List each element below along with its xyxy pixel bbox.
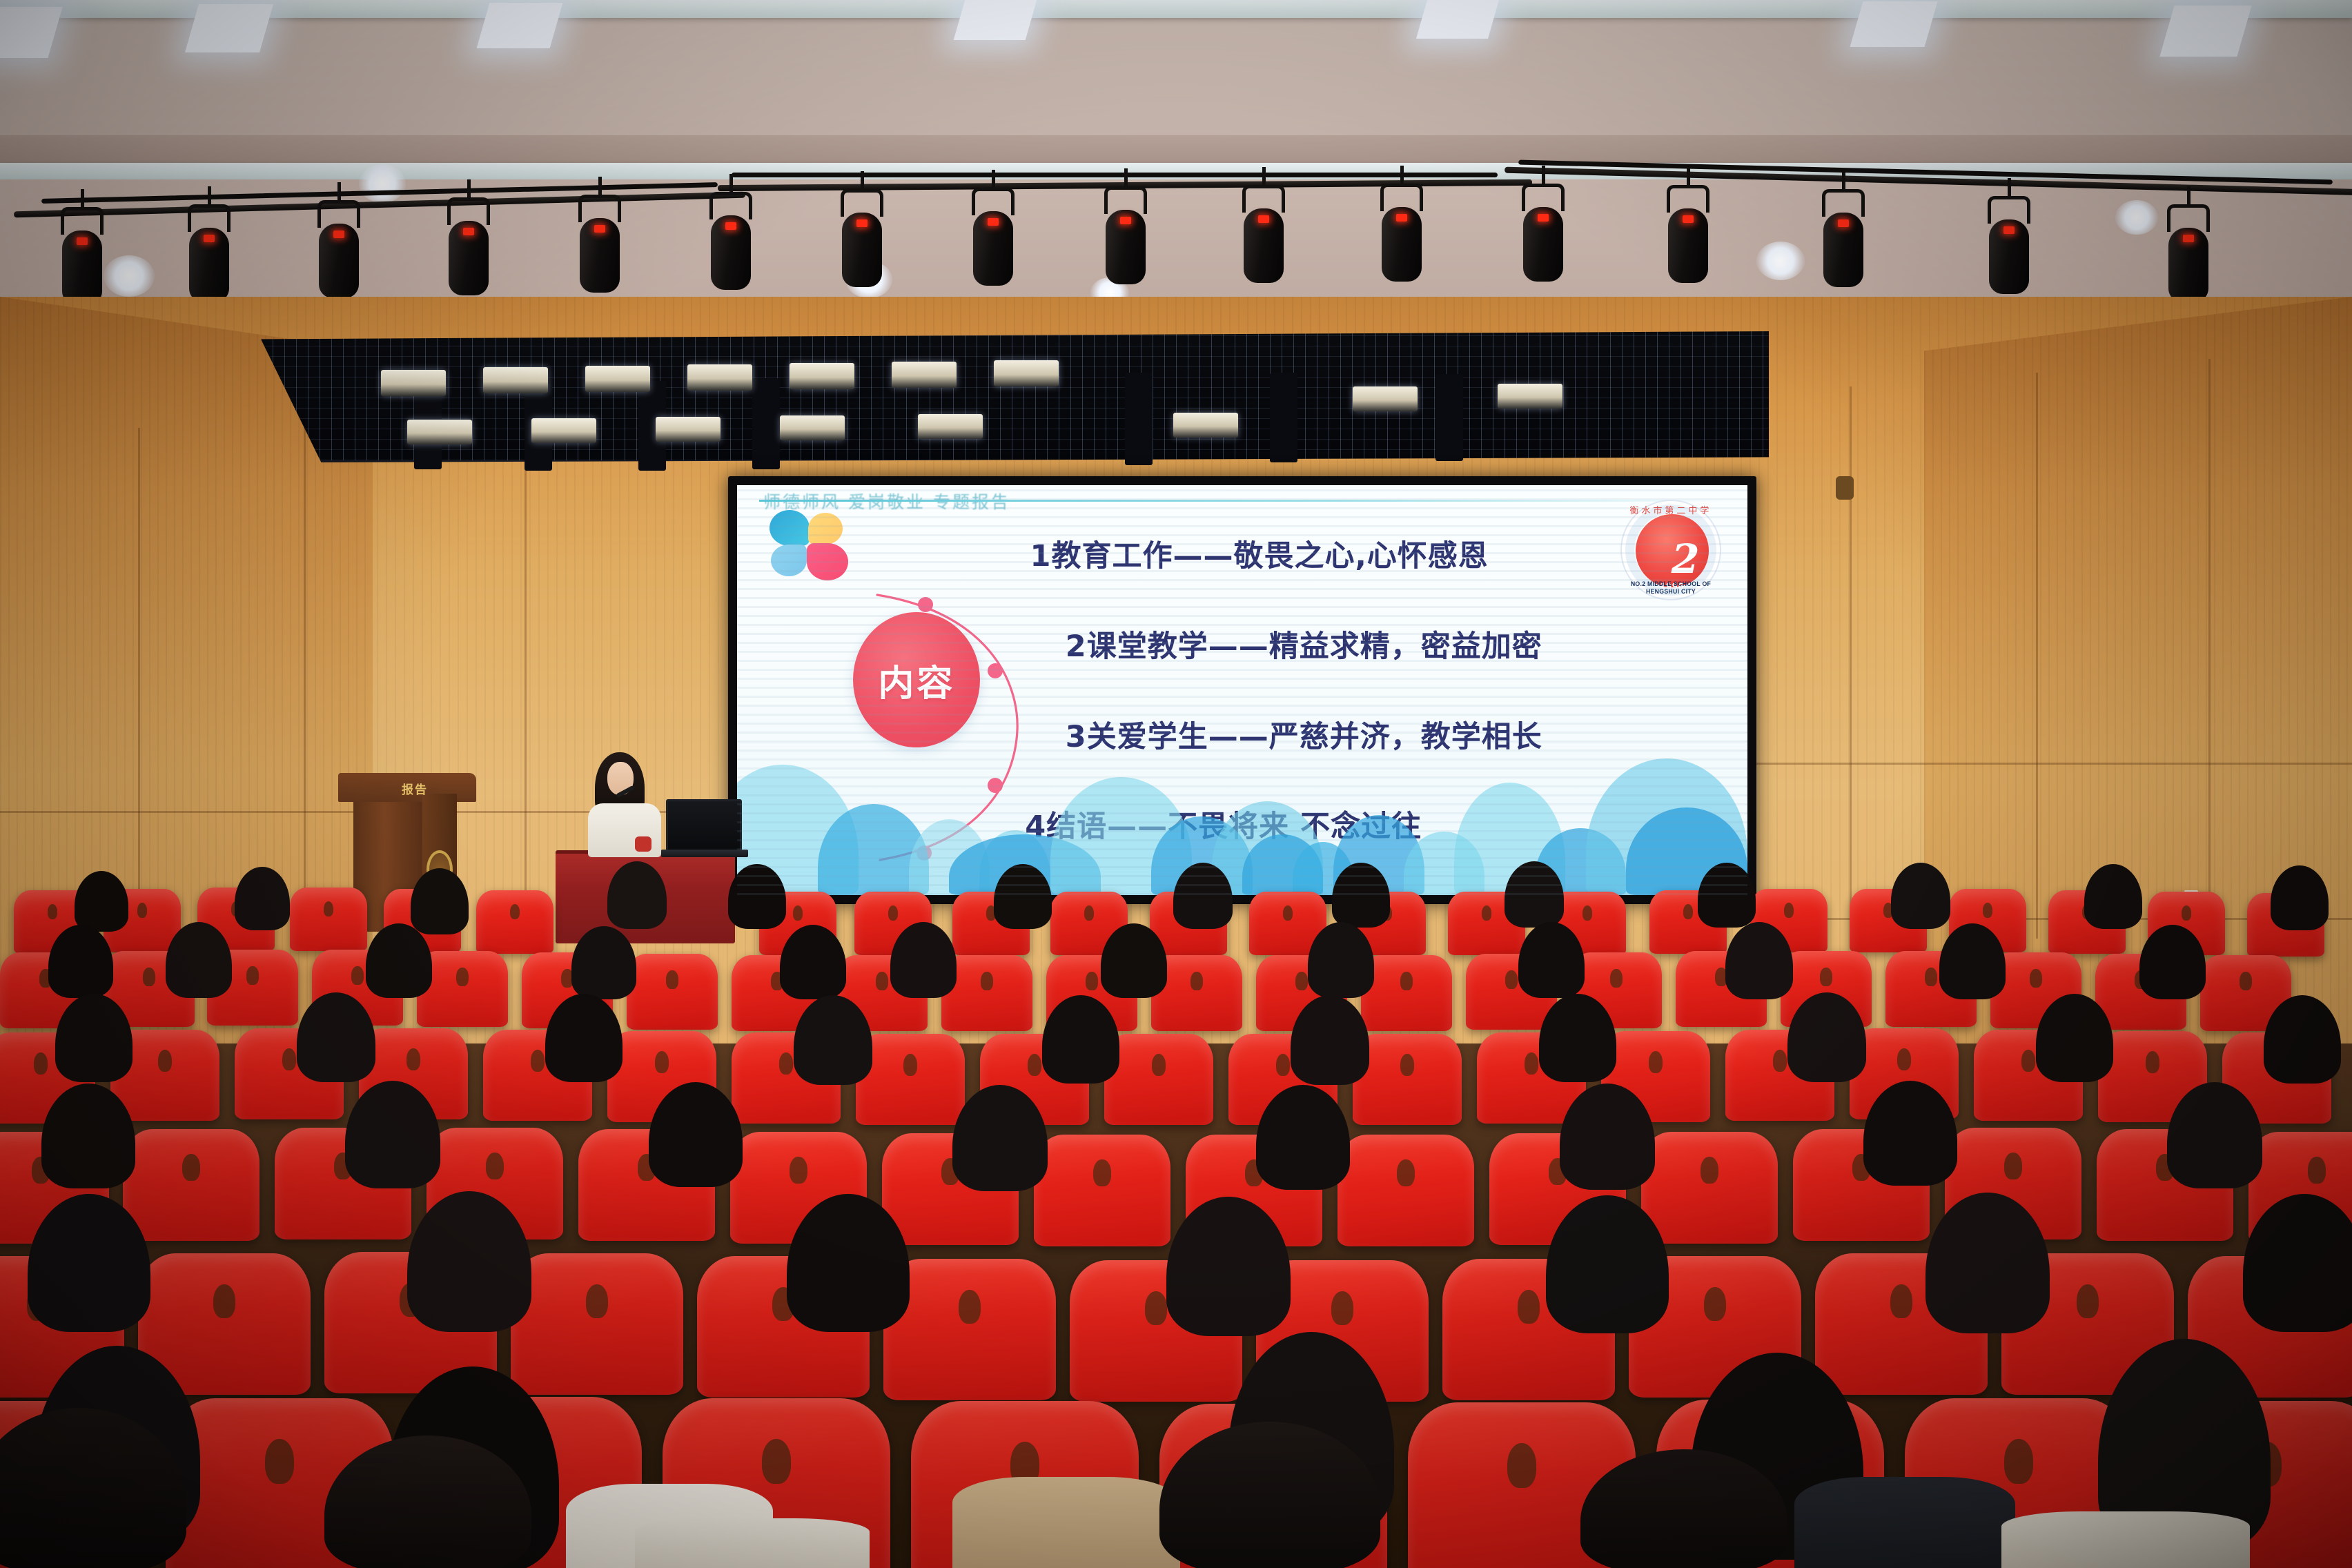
- audience-person: [2167, 1082, 2262, 1188]
- audience-person: [1787, 992, 1866, 1082]
- audience-person: [2271, 865, 2329, 930]
- school-crest-logo: 衡水市第二中学 2 1996 NO.2 MIDDLE SCHOOL OF HEN…: [1620, 500, 1721, 600]
- bay-light-hanger: [1435, 374, 1463, 461]
- audience-person: [297, 992, 375, 1082]
- person-hair: [1891, 863, 1950, 929]
- ceiling-troffer-light: [185, 4, 273, 52]
- bay-stage-light: [918, 414, 983, 439]
- person-hair: [607, 861, 667, 929]
- content-center-circle: 内容: [853, 612, 980, 747]
- stage-spotlight: [188, 204, 231, 308]
- ceiling-cove-light: [0, 0, 2352, 18]
- audience-person: [407, 1191, 531, 1332]
- wall-panel-seam: [2208, 359, 2211, 939]
- audience-person: [2264, 995, 2341, 1084]
- audience-seat[interactable]: [1104, 1034, 1213, 1125]
- audience-person: [1891, 863, 1950, 929]
- person-hair: [1580, 1449, 1787, 1568]
- person-hair: [1291, 995, 1369, 1085]
- bay-stage-light: [407, 420, 472, 444]
- podium-label: 报告: [402, 780, 428, 797]
- audience-person-closest: [324, 1435, 531, 1568]
- content-center-label: 内容: [878, 654, 955, 706]
- person-hair: [1787, 992, 1866, 1082]
- audience-person-closest: [1159, 1422, 1380, 1568]
- person-hair: [780, 925, 846, 999]
- audience-person: [1042, 995, 1119, 1084]
- person-hair: [75, 871, 128, 932]
- audience-person: [1925, 1193, 2050, 1333]
- audience-dark-coat: [1794, 1477, 2015, 1568]
- person-hair: [407, 1191, 531, 1332]
- audience-person: [890, 922, 957, 998]
- audience-person: [1863, 1081, 1957, 1186]
- audience-seat[interactable]: [1337, 1135, 1474, 1246]
- bay-light-hanger: [752, 378, 780, 469]
- audience-white-jacket-foreground: [635, 1518, 870, 1568]
- wall-camera: [1836, 476, 1854, 500]
- audience-person: [1560, 1084, 1655, 1190]
- slide-hill-decoration: [737, 743, 1747, 895]
- person-hair: [235, 867, 290, 930]
- audience-fur-hood: [952, 1477, 1180, 1568]
- audience-person: [1725, 922, 1793, 999]
- person-hair: [1332, 863, 1390, 928]
- person-hair: [1546, 1195, 1669, 1333]
- person-hair: [649, 1082, 743, 1187]
- audience-person: [1505, 861, 1564, 928]
- audience-person: [649, 1082, 743, 1187]
- audience-person: [1332, 863, 1390, 928]
- bay-stage-light: [656, 417, 721, 442]
- ceiling-troffer-light: [1850, 1, 1938, 47]
- bay-stage-light: [1353, 386, 1418, 411]
- bay-light-hanger: [1270, 373, 1297, 462]
- stage-spotlight: [1380, 184, 1423, 287]
- laptop-base[interactable]: [661, 850, 748, 857]
- wall-panel-seam: [304, 414, 306, 939]
- person-hair: [366, 923, 432, 998]
- bay-stage-light: [994, 360, 1059, 386]
- bay-stage-light: [585, 366, 650, 392]
- audience-person: [2139, 925, 2206, 999]
- lighting-cable: [732, 173, 1498, 177]
- audience-person-closest: [0, 1408, 186, 1568]
- stage-spotlight: [1522, 184, 1565, 287]
- slide-bullet-2: 2课堂教学——精益求精，密益加密: [1066, 623, 1542, 665]
- person-hair: [297, 992, 375, 1082]
- person-hair: [28, 1194, 150, 1332]
- petal-lightblue-icon: [771, 545, 807, 576]
- auditorium-photo: 师德师风 爱岗敬业 专题报告 衡水市第二中学 2 1996 NO.2 MIDDL…: [0, 0, 2352, 1568]
- person-hair: [571, 926, 636, 999]
- audience-person: [787, 1194, 910, 1332]
- wall-panel-seam: [2036, 373, 2038, 939]
- ceiling-troffer-light: [477, 3, 563, 48]
- person-hair: [1560, 1084, 1655, 1190]
- presenter-person: [588, 752, 664, 856]
- audience-person: [1518, 922, 1585, 998]
- person-hair: [890, 922, 957, 998]
- audience-person: [41, 1084, 135, 1188]
- petal-pink-icon: [807, 543, 848, 580]
- audience-person: [1308, 922, 1374, 998]
- audience-person: [1939, 923, 2006, 999]
- audience-person: [1173, 863, 1233, 929]
- ceiling-downlight: [2115, 200, 2158, 235]
- person-hair: [1101, 923, 1167, 998]
- laptop-screen[interactable]: [666, 799, 742, 852]
- bay-stage-light: [1498, 384, 1562, 409]
- audience-person: [728, 864, 786, 929]
- audience-person: [1539, 994, 1616, 1082]
- person-hair: [545, 994, 623, 1082]
- ceiling-troffer-light: [1416, 0, 1499, 39]
- person-hair: [324, 1435, 531, 1568]
- person-hair: [1505, 861, 1564, 928]
- stage-spotlight: [709, 192, 752, 295]
- audience-person: [1166, 1197, 1291, 1336]
- bay-stage-light: [892, 362, 957, 388]
- person-hair: [1173, 863, 1233, 929]
- stage-spotlight: [972, 188, 1015, 291]
- person-hair: [1159, 1422, 1380, 1568]
- crest-numeral: 2: [1657, 538, 1713, 580]
- bay-stage-light: [780, 415, 845, 440]
- audience-person-closest: [1580, 1449, 1787, 1568]
- person-hair: [1939, 923, 2006, 999]
- slide-bullet-1: 1教育工作——敬畏之心,心怀感恩: [1030, 532, 1489, 575]
- stage-spotlight: [317, 200, 360, 304]
- crest-english-name: NO.2 MIDDLE SCHOOL OF HENGSHUI CITY: [1626, 580, 1716, 596]
- wall-panel-seam: [1850, 386, 1852, 939]
- person-hair: [1166, 1197, 1291, 1336]
- audience-person: [780, 925, 846, 999]
- audience-person: [952, 1085, 1048, 1191]
- crest-disc: 2 1996: [1636, 514, 1709, 587]
- person-hair: [55, 994, 133, 1082]
- stage-spotlight: [1667, 185, 1709, 288]
- person-hair: [1539, 994, 1616, 1082]
- petal-yellow-icon: [808, 513, 843, 545]
- audience-person: [235, 867, 290, 930]
- audience-seat[interactable]: [627, 954, 718, 1030]
- audience-person: [794, 995, 872, 1085]
- person-hair: [1925, 1193, 2050, 1333]
- desk-microphone: [635, 836, 651, 852]
- audience-person: [994, 864, 1052, 929]
- bay-stage-light: [483, 367, 548, 393]
- ceiling-downlight: [104, 255, 155, 297]
- person-hair: [1256, 1085, 1350, 1190]
- bay-stage-light: [531, 418, 596, 443]
- petal-blue-icon: [770, 510, 810, 546]
- person-hair: [1863, 1081, 1957, 1186]
- bay-stage-light: [790, 363, 854, 389]
- person-hair: [952, 1085, 1048, 1191]
- ceiling-troffer-light: [954, 0, 1037, 40]
- audience-person: [1546, 1195, 1669, 1333]
- audience-person: [545, 994, 623, 1082]
- person-hair: [787, 1194, 910, 1332]
- audience-person: [166, 922, 232, 998]
- person-hair: [2264, 995, 2341, 1084]
- slide-surface: 师德师风 爱岗敬业 专题报告 衡水市第二中学 2 1996 NO.2 MIDDL…: [737, 485, 1747, 895]
- audience-person: [1101, 923, 1167, 998]
- bay-stage-light: [687, 364, 752, 391]
- person-hair: [1042, 995, 1119, 1084]
- audience-seat[interactable]: [476, 890, 553, 954]
- stage-spotlight: [1104, 186, 1147, 290]
- stage-spotlight: [61, 207, 104, 311]
- ceiling-troffer-light: [2159, 6, 2251, 57]
- person-hair: [2139, 925, 2206, 999]
- stage-spotlight: [578, 195, 621, 298]
- person-hair: [1518, 922, 1585, 998]
- person-hair: [1698, 863, 1756, 928]
- slide-header-rule: [759, 500, 1725, 502]
- person-hair: [41, 1084, 135, 1188]
- person-hair: [2036, 994, 2113, 1082]
- led-presentation-screen[interactable]: 师德师风 爱岗敬业 专题报告 衡水市第二中学 2 1996 NO.2 MIDDL…: [728, 476, 1756, 904]
- wall-panel-seam: [138, 428, 140, 939]
- audience-person: [75, 871, 128, 932]
- ceiling-downlight: [359, 164, 406, 203]
- person-hair: [794, 995, 872, 1085]
- wall-panel-seam: [525, 407, 527, 939]
- audience-person: [1698, 863, 1756, 928]
- stage-spotlight: [447, 197, 490, 301]
- ceiling-downlight: [1756, 242, 1805, 280]
- audience-person: [2084, 864, 2142, 929]
- audience-person: [571, 926, 636, 999]
- audience-person: [48, 925, 113, 998]
- person-hair: [2243, 1194, 2352, 1332]
- person-hair: [2084, 864, 2142, 929]
- audience-person: [345, 1081, 440, 1188]
- person-hair: [2271, 865, 2329, 930]
- audience-seat[interactable]: [1034, 1135, 1170, 1246]
- audience-person: [2036, 994, 2113, 1082]
- four-petal-flower-logo: [770, 510, 847, 582]
- audience-seat[interactable]: [290, 888, 367, 951]
- person-hair: [166, 922, 232, 998]
- person-hair: [2167, 1082, 2262, 1188]
- person-hair: [1308, 922, 1374, 998]
- person-hair: [345, 1081, 440, 1188]
- audience-person: [2243, 1194, 2352, 1332]
- person-hair: [994, 864, 1052, 929]
- bay-light-hanger: [1125, 373, 1153, 465]
- audience-person: [1291, 995, 1369, 1085]
- stage-spotlight: [1988, 196, 2030, 300]
- audience-cream-jacket: [2001, 1511, 2250, 1568]
- person-hair: [48, 925, 113, 998]
- audience-person: [366, 923, 432, 998]
- stage-spotlight: [1242, 185, 1285, 288]
- stage-spotlight: [1822, 189, 1865, 293]
- wall-panel-seam: [1725, 763, 2352, 765]
- person-hair: [1725, 922, 1793, 999]
- audience-seat[interactable]: [1361, 955, 1452, 1031]
- ceiling-soffit-band: [0, 135, 2352, 163]
- audience-person: [1256, 1085, 1350, 1190]
- person-hair: [728, 864, 786, 929]
- bay-stage-light: [381, 370, 446, 396]
- stage-spotlight: [2167, 204, 2210, 308]
- audience-person: [28, 1194, 150, 1332]
- audience-person: [607, 861, 667, 929]
- audience-person: [55, 994, 133, 1082]
- person-hair: [0, 1408, 186, 1568]
- bay-stage-light: [1173, 413, 1238, 438]
- stage-spotlight: [841, 189, 883, 293]
